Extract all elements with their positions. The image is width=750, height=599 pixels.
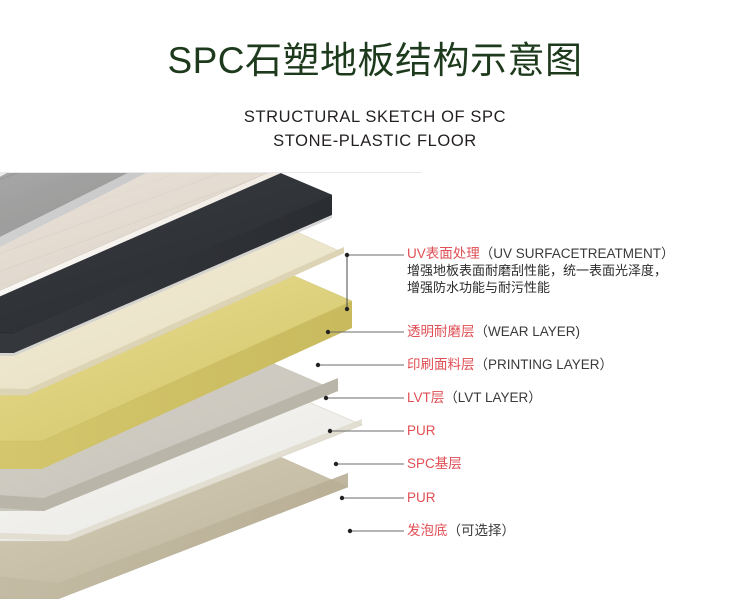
layer-label-uv-cn: UV表面处理 — [407, 246, 480, 261]
subtitle-line-1: STRUCTURAL SKETCH OF SPC — [0, 105, 750, 129]
layer-desc-uv-line2: 增强防水功能与耐污性能 — [407, 279, 675, 296]
leader-spc — [334, 462, 404, 466]
layer-label-printing[interactable]: 印刷面料层（PRINTING LAYER） — [407, 356, 613, 373]
leader-printing — [316, 363, 404, 367]
layer-label-uv[interactable]: UV表面处理（UV SURFACETREATMENT） 增强地板表面耐磨刮性能，… — [407, 245, 675, 296]
leader-foam — [348, 529, 404, 533]
layer-label-wear-en: （WEAR LAYER) — [475, 324, 581, 339]
subtitle-line-2: STONE-PLASTIC FLOOR — [0, 129, 750, 153]
layer-label-pur-upper-cn: PUR — [407, 423, 436, 438]
layer-label-uv-en: （UV SURFACETREATMENT） — [480, 246, 675, 261]
layer-label-lvt-en: （LVT LAYER） — [444, 390, 542, 405]
layer-stack-svg — [0, 173, 750, 599]
layer-label-lvt-cn: LVT层 — [407, 390, 444, 405]
layer-label-foam[interactable]: 发泡底（可选择） — [407, 522, 515, 539]
leader-uv — [345, 253, 404, 311]
layer-label-spc[interactable]: SPC基层 — [407, 455, 462, 472]
layer-label-pur-lower-cn: PUR — [407, 490, 436, 505]
leader-pur-lower — [340, 496, 404, 500]
page-title: SPC石塑地板结构示意图 — [0, 38, 750, 84]
spc-structure-diagram-page: SPC石塑地板结构示意图 STRUCTURAL SKETCH OF SPC ST… — [0, 0, 750, 599]
layer-label-pur-lower[interactable]: PUR — [407, 489, 436, 506]
layer-desc-uv-line1: 增强地板表面耐磨刮性能，统一表面光泽度， — [407, 262, 675, 279]
header: SPC石塑地板结构示意图 STRUCTURAL SKETCH OF SPC ST… — [0, 0, 750, 172]
layer-label-foam-cn: 发泡底 — [407, 523, 448, 538]
layer-label-spc-cn: SPC基层 — [407, 456, 462, 471]
layer-label-foam-en: （可选择） — [448, 523, 516, 538]
page-subtitle: STRUCTURAL SKETCH OF SPC STONE-PLASTIC F… — [0, 105, 750, 153]
layer-label-printing-cn: 印刷面料层 — [407, 357, 475, 372]
layer-label-wear-cn: 透明耐磨层 — [407, 324, 475, 339]
layer-label-printing-en: （PRINTING LAYER） — [475, 357, 614, 372]
layer-label-wear[interactable]: 透明耐磨层（WEAR LAYER) — [407, 323, 580, 340]
layer-label-lvt[interactable]: LVT层（LVT LAYER） — [407, 389, 542, 406]
layer-label-pur-upper[interactable]: PUR — [407, 422, 436, 439]
leader-lvt — [324, 396, 404, 400]
exploded-layer-illustration: UV表面处理（UV SURFACETREATMENT） 增强地板表面耐磨刮性能，… — [0, 173, 750, 599]
